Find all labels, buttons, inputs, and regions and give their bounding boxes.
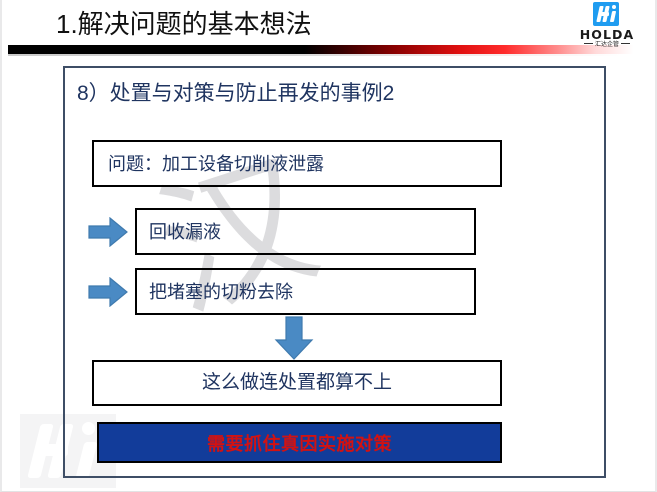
step2-box-label: 把堵塞的切粉去除 (149, 281, 293, 303)
right-arrow-icon (88, 217, 128, 247)
header-divider-shadow (8, 54, 653, 56)
right-arrow-icon (88, 277, 128, 307)
company-logo: HOLDA 汇达企管 (571, 2, 643, 46)
logo-subtitle-text: 汇达企管 (595, 42, 619, 48)
step1-box: 回收漏液 (135, 208, 476, 255)
action-box: 需要抓住真因实施对策 (97, 422, 502, 463)
panel-heading: 8）处置与对策与防止再发的事例2 (77, 80, 394, 108)
page-title: 1.解决问题的基本想法 (56, 8, 312, 40)
header-divider-bar (8, 45, 653, 54)
down-arrow-icon (274, 316, 314, 360)
logo-subtitle: 汇达企管 (571, 39, 643, 48)
problem-box: 问题：加工设备切削液泄露 (92, 140, 502, 187)
holda-monogram-icon (593, 2, 619, 26)
conclusion-box-label: 这么做连处置都算不上 (202, 372, 392, 394)
problem-box-label: 问题：加工设备切削液泄露 (108, 153, 324, 175)
action-box-label: 需要抓住真因实施对策 (207, 430, 392, 456)
slide-canvas: 1.解决问题的基本想法 HOLDA 汇达企管 汉 8）处置与对策与防止再发的事例… (0, 0, 657, 492)
step2-box: 把堵塞的切粉去除 (135, 268, 476, 315)
step1-box-label: 回收漏液 (149, 221, 221, 243)
conclusion-box: 这么做连处置都算不上 (92, 360, 502, 406)
